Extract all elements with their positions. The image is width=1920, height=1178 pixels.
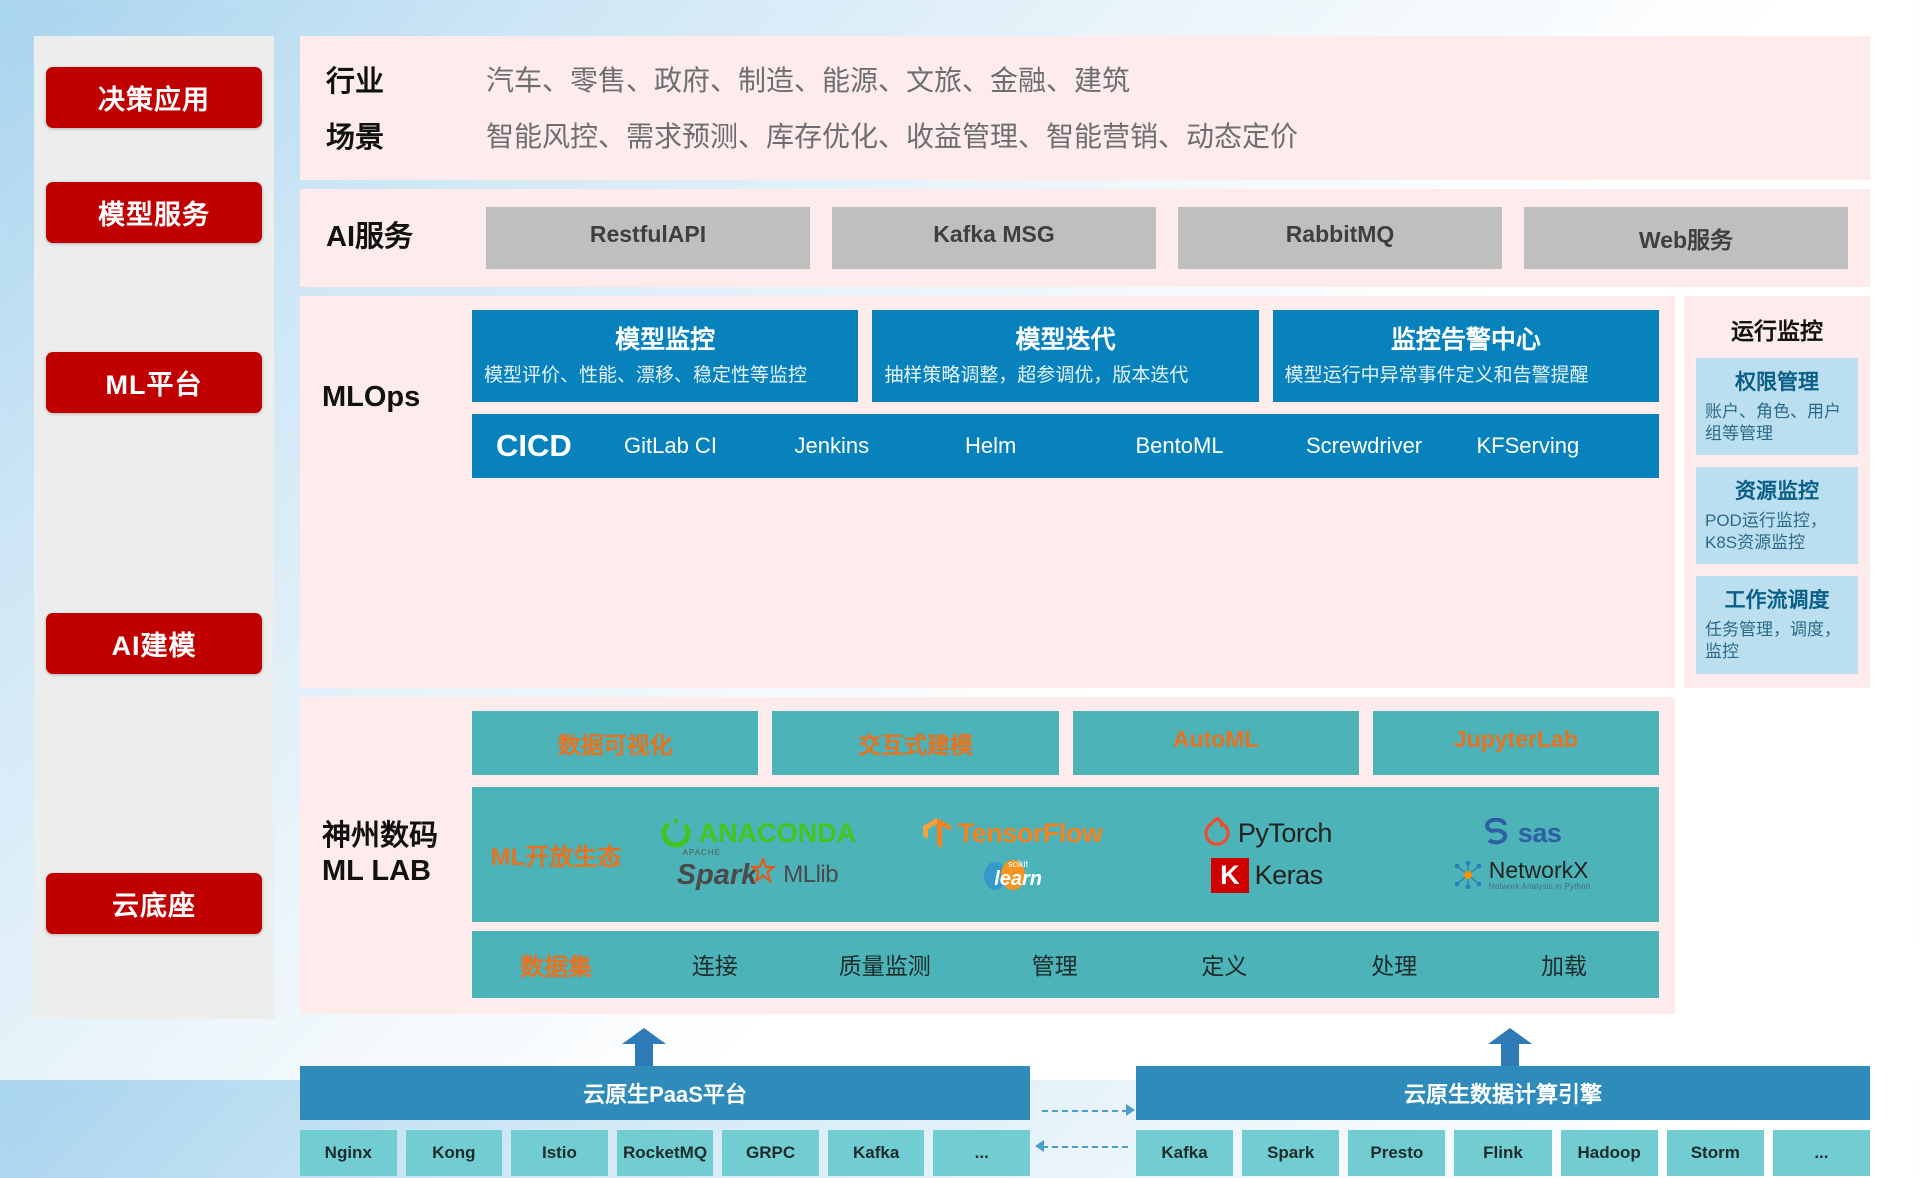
dash-connector-left bbox=[1042, 1146, 1128, 1148]
model-service-band: AI服务 RestfulAPI Kafka MSG RabbitMQ Web服务 bbox=[300, 189, 1870, 287]
paas-chip-kafka[interactable]: Kafka bbox=[828, 1130, 925, 1176]
engine-chip-more[interactable]: ... bbox=[1773, 1130, 1870, 1176]
card-desc: POD运行监控，K8S资源监控 bbox=[1705, 510, 1849, 554]
arrow-paas-to-platform bbox=[622, 1028, 666, 1068]
cicd-item-gitlab-ci[interactable]: GitLab CI bbox=[624, 432, 795, 460]
tensorflow-mark-icon bbox=[922, 816, 952, 850]
cicd-item-jenkins[interactable]: Jenkins bbox=[795, 432, 966, 460]
networkx-logo[interactable]: NetworkX Network Analysis in Python bbox=[1453, 859, 1591, 891]
spark-apache-text: APACHE bbox=[683, 848, 721, 857]
card-desc: 模型运行中异常事件定义和告警提醒 bbox=[1285, 363, 1647, 388]
monitor-card-permission[interactable]: 权限管理 账户、角色、用户组等管理 bbox=[1696, 358, 1858, 455]
mlops-content: 模型监控 模型评价、性能、漂移、稳定性等监控 模型迭代 抽样策略调整，超参调优，… bbox=[472, 310, 1659, 478]
rail-cell-cloud-base: 云底座 bbox=[34, 788, 274, 1019]
tool-chip-interactive-modeling[interactable]: 交互式建模 bbox=[772, 711, 1058, 775]
rail-chip-ai-modeling[interactable]: AI建模 bbox=[46, 613, 262, 674]
scikit-learn-logo[interactable]: scikit learn bbox=[982, 855, 1042, 895]
tool-chip-jupyterlab[interactable]: JupyterLab bbox=[1373, 711, 1659, 775]
spark-wordmark: Spark bbox=[677, 859, 758, 892]
ml-lab-label-line2: ML LAB bbox=[322, 854, 472, 889]
cicd-item-helm[interactable]: Helm bbox=[965, 432, 1136, 460]
ai-service-chip-list: RestfulAPI Kafka MSG RabbitMQ Web服务 bbox=[486, 207, 1848, 269]
runtime-monitoring-column: 运行监控 权限管理 账户、角色、用户组等管理 资源监控 POD运行监控，K8S资… bbox=[1684, 296, 1870, 688]
ml-lab-content: 数据可视化 交互式建模 AutoML JupyterLab ML开放生态 bbox=[472, 711, 1659, 998]
mlops-card-model-monitoring[interactable]: 模型监控 模型评价、性能、漂移、稳定性等监控 bbox=[472, 310, 858, 402]
paas-chip-grpc[interactable]: GRPC bbox=[722, 1130, 819, 1176]
ml-open-ecosystem-label: ML开放生态 bbox=[482, 837, 630, 872]
dataset-item-define[interactable]: 定义 bbox=[1139, 947, 1309, 981]
engine-chip-hadoop[interactable]: Hadoop bbox=[1561, 1130, 1658, 1176]
networkx-tagline: Network Analysis in Python bbox=[1489, 882, 1591, 891]
ml-open-ecosystem-row: ML开放生态 ANACONDA bbox=[472, 787, 1659, 922]
pytorch-logo[interactable]: PyTorch bbox=[1202, 817, 1332, 849]
keras-k-badge: K bbox=[1211, 858, 1249, 893]
arrow-engine-to-platform bbox=[1488, 1028, 1532, 1068]
monitor-card-resource[interactable]: 资源监控 POD运行监控，K8S资源监控 bbox=[1696, 467, 1858, 564]
rail-chip-cloud-base[interactable]: 云底座 bbox=[46, 873, 262, 934]
ml-tool-chip-list: 数据可视化 交互式建模 AutoML JupyterLab bbox=[472, 711, 1659, 775]
cloud-paas-chip-list: Nginx Kong Istio RocketMQ GRPC Kafka ... bbox=[300, 1130, 1030, 1176]
industry-label: 行业 bbox=[326, 58, 486, 100]
industry-values: 汽车、零售、政府、制造、能源、文旅、金融、建筑 bbox=[486, 59, 1130, 99]
dash-head-right bbox=[1126, 1104, 1135, 1116]
dataset-item-manage[interactable]: 管理 bbox=[970, 947, 1140, 981]
mlops-section: MLOps 模型监控 模型评价、性能、漂移、稳定性等监控 模型迭代 抽样策略调整… bbox=[300, 296, 1675, 688]
cloud-engine-chip-list: Kafka Spark Presto Flink Hadoop Storm ..… bbox=[1136, 1130, 1870, 1176]
spark-mllib-logo[interactable]: APACHE Spark MLlib bbox=[677, 859, 838, 892]
paas-chip-istio[interactable]: Istio bbox=[511, 1130, 608, 1176]
cloud-paas-title[interactable]: 云原生PaaS平台 bbox=[300, 1066, 1030, 1120]
ai-modeling-band: 神州数码 ML LAB 数据可视化 交互式建模 AutoML JupyterLa… bbox=[300, 697, 1870, 1014]
dataset-item-load[interactable]: 加载 bbox=[1479, 947, 1649, 981]
industry-row: 行业 汽车、零售、政府、制造、能源、文旅、金融、建筑 bbox=[326, 58, 1844, 100]
modeling-band-right-spacer bbox=[1684, 697, 1870, 1014]
card-desc: 抽样策略调整，超参调优，版本迭代 bbox=[884, 363, 1246, 388]
runtime-monitoring-heading: 运行监控 bbox=[1696, 308, 1858, 358]
rail-chip-decision[interactable]: 决策应用 bbox=[46, 67, 262, 128]
service-chip-restfulapi[interactable]: RestfulAPI bbox=[486, 207, 810, 269]
tool-chip-automl[interactable]: AutoML bbox=[1073, 711, 1359, 775]
anaconda-ring-icon bbox=[659, 816, 693, 850]
paas-chip-more[interactable]: ... bbox=[933, 1130, 1030, 1176]
mlops-card-alert-center[interactable]: 监控告警中心 模型运行中异常事件定义和告警提醒 bbox=[1273, 310, 1659, 402]
tensorflow-wordmark: TensorFlow bbox=[958, 818, 1103, 849]
ai-service-label: AI服务 bbox=[326, 220, 486, 255]
dataset-item-list: 连接 质量监测 管理 定义 处理 加载 bbox=[630, 947, 1649, 981]
stack-layer-rail: 决策应用 模型服务 ML平台 AI建模 云底座 bbox=[34, 36, 274, 1019]
paas-chip-kong[interactable]: Kong bbox=[406, 1130, 503, 1176]
keras-logo[interactable]: K Keras bbox=[1211, 858, 1323, 893]
dataset-item-quality-monitor[interactable]: 质量监测 bbox=[800, 947, 970, 981]
dataset-row: 数据集 连接 质量监测 管理 定义 处理 加载 bbox=[472, 931, 1659, 998]
cicd-item-bentoml[interactable]: BentoML bbox=[1136, 432, 1307, 460]
cloud-engine-column: 云原生数据计算引擎 Kafka Spark Presto Flink Hadoo… bbox=[1136, 1066, 1870, 1176]
cicd-item-list: GitLab CI Jenkins Helm BentoML Screwdriv… bbox=[624, 432, 1647, 460]
card-desc: 模型评价、性能、漂移、稳定性等监控 bbox=[484, 363, 846, 388]
mllib-wordmark: MLlib bbox=[783, 861, 838, 889]
tensorflow-logo[interactable]: TensorFlow bbox=[922, 816, 1103, 850]
card-title: 模型迭代 bbox=[884, 320, 1246, 356]
sas-mark-icon bbox=[1482, 818, 1512, 848]
rail-cell-ml-platform: ML平台 bbox=[34, 266, 274, 498]
sas-logo[interactable]: sas bbox=[1482, 818, 1562, 849]
cicd-bar: CICD GitLab CI Jenkins Helm BentoML Scre… bbox=[472, 414, 1659, 478]
ecosystem-logo-grid: ANACONDA TensorFlow bbox=[630, 813, 1649, 895]
anaconda-wordmark: ANACONDA bbox=[699, 818, 857, 849]
cloud-paas-column: 云原生PaaS平台 Nginx Kong Istio RocketMQ GRPC… bbox=[300, 1066, 1030, 1176]
engine-chip-storm[interactable]: Storm bbox=[1667, 1130, 1764, 1176]
scenario-values: 智能风控、需求预测、库存优化、收益管理、智能营销、动态定价 bbox=[486, 115, 1298, 155]
paas-chip-nginx[interactable]: Nginx bbox=[300, 1130, 397, 1176]
decision-application-band: 行业 汽车、零售、政府、制造、能源、文旅、金融、建筑 场景 智能风控、需求预测、… bbox=[300, 36, 1870, 180]
ml-platform-band: MLOps 模型监控 模型评价、性能、漂移、稳定性等监控 模型迭代 抽样策略调整… bbox=[300, 296, 1870, 688]
mlops-card-model-iteration[interactable]: 模型迭代 抽样策略调整，超参调优，版本迭代 bbox=[872, 310, 1258, 402]
cicd-item-kfserving[interactable]: KFServing bbox=[1477, 432, 1648, 460]
monitor-card-workflow[interactable]: 工作流调度 任务管理，调度，监控 bbox=[1696, 576, 1858, 673]
networkx-wordmark: NetworkX bbox=[1489, 859, 1591, 882]
card-title: 资源监控 bbox=[1705, 475, 1849, 505]
scenario-label: 场景 bbox=[326, 114, 486, 156]
engine-chip-kafka[interactable]: Kafka bbox=[1136, 1130, 1233, 1176]
card-desc: 任务管理，调度，监控 bbox=[1705, 619, 1849, 663]
rail-chip-model-service[interactable]: 模型服务 bbox=[46, 182, 262, 243]
engine-chip-spark[interactable]: Spark bbox=[1242, 1130, 1339, 1176]
card-title: 监控告警中心 bbox=[1285, 320, 1647, 356]
mlops-label: MLOps bbox=[322, 310, 472, 415]
ml-lab-section: 神州数码 ML LAB 数据可视化 交互式建模 AutoML JupyterLa… bbox=[300, 697, 1675, 1014]
service-chip-web-service[interactable]: Web服务 bbox=[1524, 207, 1848, 269]
dataset-label: 数据集 bbox=[482, 947, 630, 982]
cloud-base-zone: 云原生PaaS平台 Nginx Kong Istio RocketMQ GRPC… bbox=[300, 1028, 1870, 1178]
anaconda-logo[interactable]: ANACONDA bbox=[659, 816, 857, 850]
pytorch-wordmark: PyTorch bbox=[1238, 818, 1332, 849]
card-desc: 账户、角色、用户组等管理 bbox=[1705, 401, 1849, 445]
spark-star-icon bbox=[751, 858, 775, 884]
rail-cell-ai-modeling: AI建模 bbox=[34, 498, 274, 788]
dash-connector-right bbox=[1042, 1110, 1128, 1112]
paas-chip-rocketmq[interactable]: RocketMQ bbox=[617, 1130, 714, 1176]
pytorch-flame-icon bbox=[1202, 817, 1232, 849]
networkx-graph-icon bbox=[1453, 861, 1483, 889]
sas-wordmark: sas bbox=[1518, 818, 1562, 849]
ml-lab-label-line1: 神州数码 bbox=[322, 819, 472, 854]
tool-chip-data-visualization[interactable]: 数据可视化 bbox=[472, 711, 758, 775]
learn-word: learn bbox=[994, 869, 1042, 890]
engine-chip-presto[interactable]: Presto bbox=[1348, 1130, 1445, 1176]
dash-head-left bbox=[1035, 1140, 1044, 1152]
dataset-item-connect[interactable]: 连接 bbox=[630, 947, 800, 981]
architecture-main: 行业 汽车、零售、政府、制造、能源、文旅、金融、建筑 场景 智能风控、需求预测、… bbox=[300, 36, 1870, 1178]
card-title: 权限管理 bbox=[1705, 366, 1849, 396]
ml-lab-label: 神州数码 ML LAB bbox=[322, 711, 472, 890]
cloud-engine-title[interactable]: 云原生数据计算引擎 bbox=[1136, 1066, 1870, 1120]
dataset-item-process[interactable]: 处理 bbox=[1309, 947, 1479, 981]
rail-cell-model-service: 模型服务 bbox=[34, 158, 274, 266]
rail-cell-decision: 决策应用 bbox=[34, 36, 274, 158]
rail-chip-ml-platform[interactable]: ML平台 bbox=[46, 352, 262, 413]
engine-chip-flink[interactable]: Flink bbox=[1454, 1130, 1551, 1176]
card-title: 工作流调度 bbox=[1705, 584, 1849, 614]
service-chip-rabbitmq[interactable]: RabbitMQ bbox=[1178, 207, 1502, 269]
scenario-row: 场景 智能风控、需求预测、库存优化、收益管理、智能营销、动态定价 bbox=[326, 114, 1844, 156]
mlops-card-list: 模型监控 模型评价、性能、漂移、稳定性等监控 模型迭代 抽样策略调整，超参调优，… bbox=[472, 310, 1659, 402]
keras-wordmark: Keras bbox=[1255, 860, 1323, 891]
cicd-title: CICD bbox=[484, 428, 624, 464]
card-title: 模型监控 bbox=[484, 320, 846, 356]
cicd-item-screwdriver[interactable]: Screwdriver bbox=[1306, 432, 1477, 460]
service-chip-kafka-msg[interactable]: Kafka MSG bbox=[832, 207, 1156, 269]
